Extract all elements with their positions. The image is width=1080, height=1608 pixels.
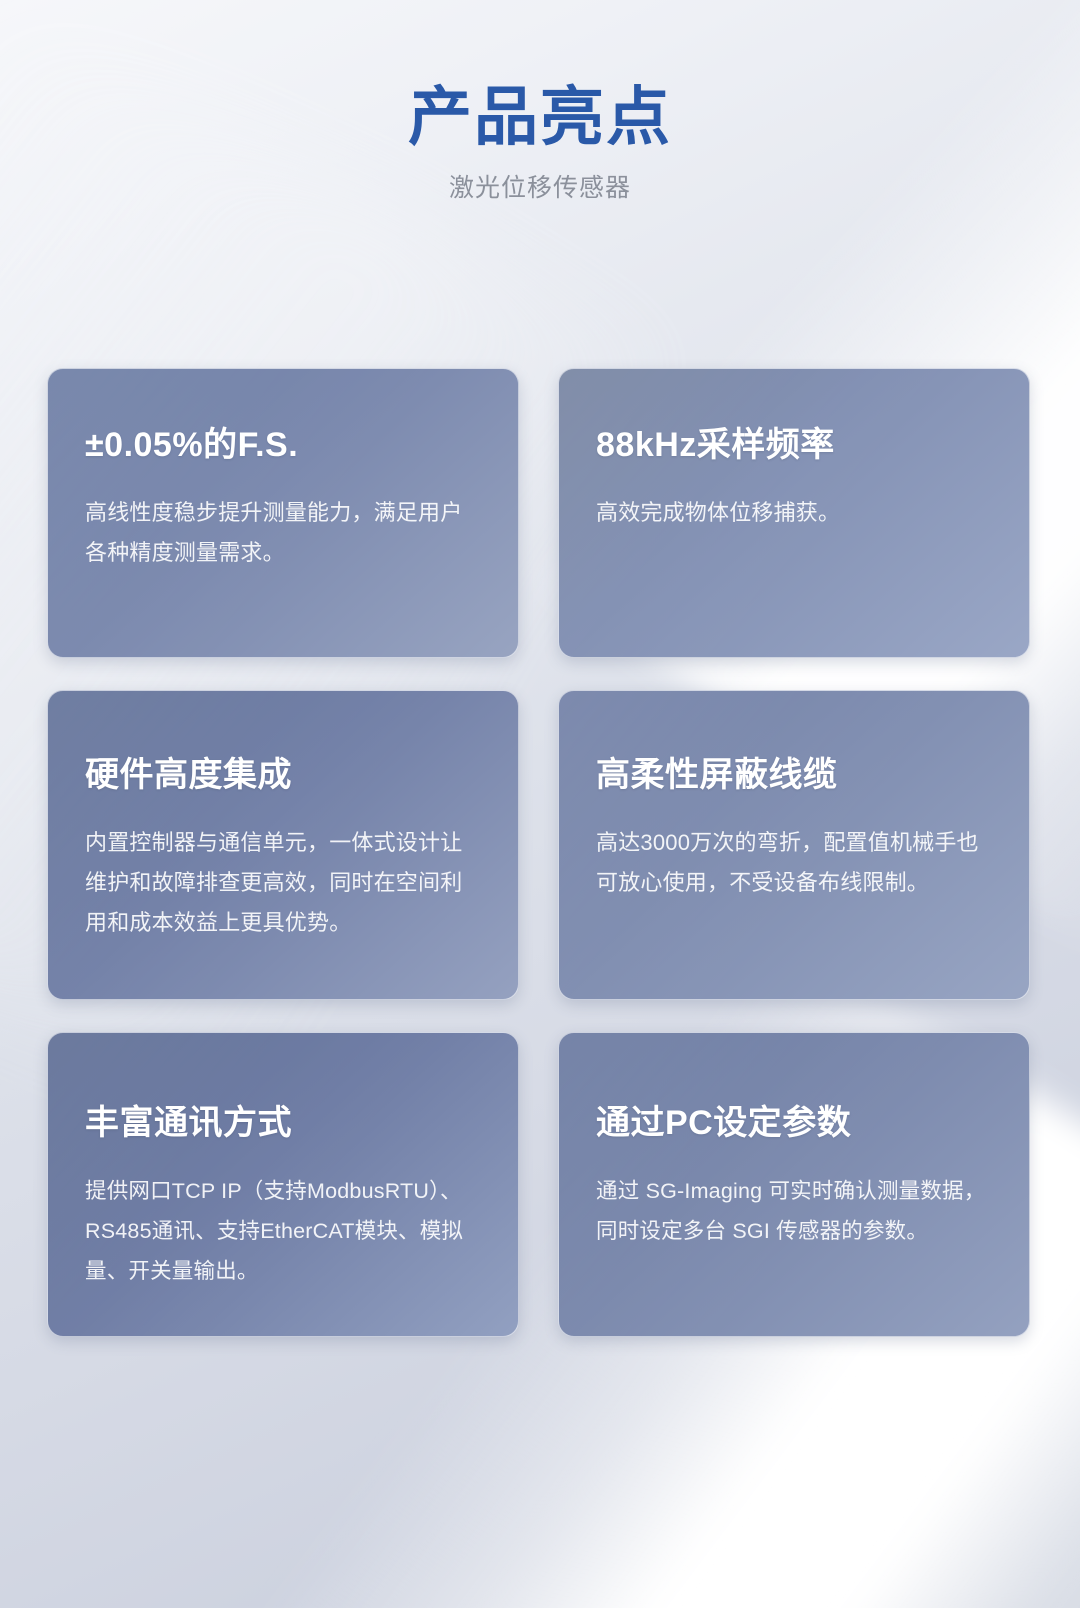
card-body: 提供网口TCP IP（支持ModbusRTU）、RS485通讯、支持EtherC… bbox=[85, 1171, 481, 1291]
highlight-card-communication[interactable]: 丰富通讯方式 提供网口TCP IP（支持ModbusRTU）、RS485通讯、支… bbox=[47, 1032, 519, 1337]
card-heading: ±0.05%的F.S. bbox=[85, 423, 481, 467]
highlight-card-grid: ±0.05%的F.S. 高线性度稳步提升测量能力，满足用户各种精度测量需求。 8… bbox=[0, 204, 1080, 1337]
page-subtitle: 激光位移传感器 bbox=[0, 172, 1080, 204]
highlight-card-flexible-cable[interactable]: 高柔性屏蔽线缆 高达3000万次的弯折，配置值机械手也可放心使用，不受设备布线限… bbox=[558, 690, 1030, 1000]
highlight-card-accuracy[interactable]: ±0.05%的F.S. 高线性度稳步提升测量能力，满足用户各种精度测量需求。 bbox=[47, 368, 519, 658]
page-header: 产品亮点 激光位移传感器 bbox=[0, 0, 1080, 204]
page-title: 产品亮点 bbox=[0, 78, 1080, 156]
card-body: 通过 SG-Imaging 可实时确认测量数据，同时设定多台 SGI 传感器的参… bbox=[596, 1171, 992, 1251]
card-heading: 丰富通讯方式 bbox=[85, 1101, 481, 1145]
card-body: 高达3000万次的弯折，配置值机械手也可放心使用，不受设备布线限制。 bbox=[596, 823, 992, 903]
product-highlights-page: 产品亮点 激光位移传感器 ±0.05%的F.S. 高线性度稳步提升测量能力，满足… bbox=[0, 0, 1080, 1608]
highlight-card-pc-configuration[interactable]: 通过PC设定参数 通过 SG-Imaging 可实时确认测量数据，同时设定多台 … bbox=[558, 1032, 1030, 1337]
highlight-card-sampling-rate[interactable]: 88kHz采样频率 高效完成物体位移捕获。 bbox=[558, 368, 1030, 658]
card-body: 高效完成物体位移捕获。 bbox=[596, 493, 992, 533]
card-body: 内置控制器与通信单元，一体式设计让维护和故障排查更高效，同时在空间利用和成本效益… bbox=[85, 823, 481, 943]
card-heading: 通过PC设定参数 bbox=[596, 1101, 992, 1145]
card-heading: 高柔性屏蔽线缆 bbox=[596, 753, 992, 797]
card-body: 高线性度稳步提升测量能力，满足用户各种精度测量需求。 bbox=[85, 493, 481, 573]
highlight-card-hardware-integration[interactable]: 硬件高度集成 内置控制器与通信单元，一体式设计让维护和故障排查更高效，同时在空间… bbox=[47, 690, 519, 1000]
card-heading: 硬件高度集成 bbox=[85, 753, 481, 797]
card-heading: 88kHz采样频率 bbox=[596, 423, 992, 467]
